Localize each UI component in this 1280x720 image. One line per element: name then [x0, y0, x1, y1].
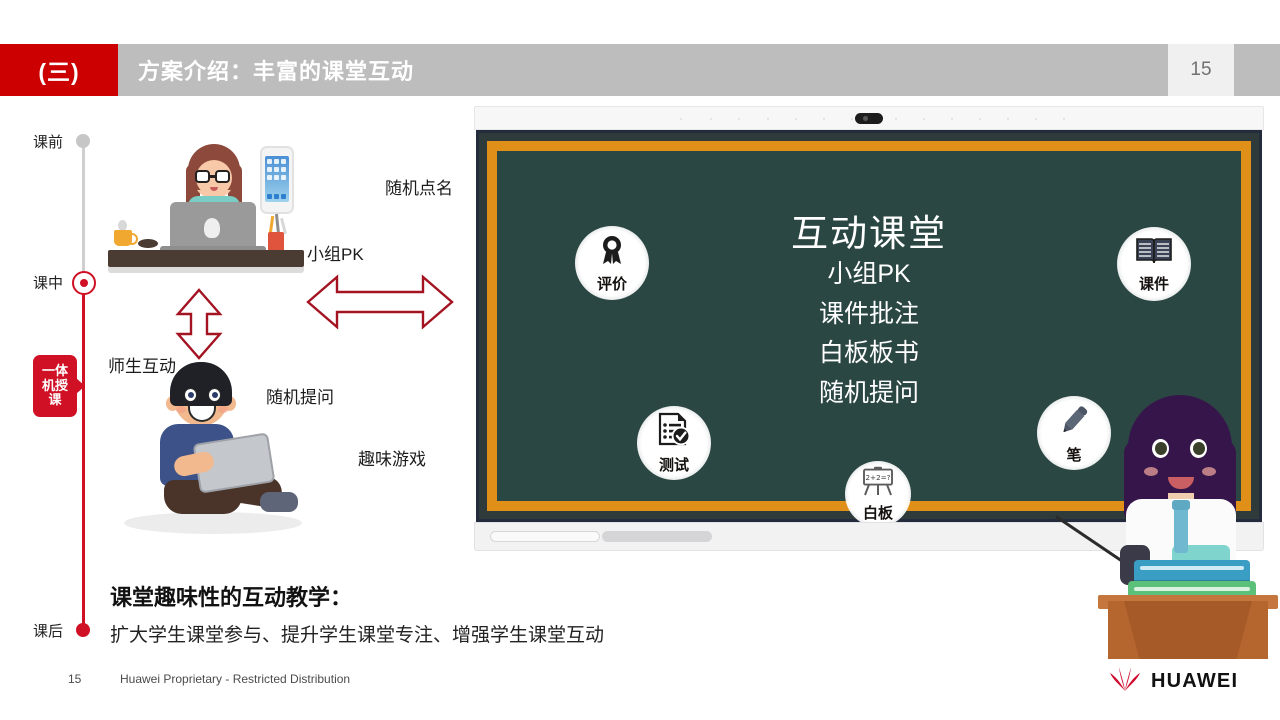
timeline-label-during: 课中: [33, 272, 63, 293]
student-hair: [170, 362, 232, 406]
laptop-icon: [170, 202, 256, 252]
board-icon-label-pen: 笔: [1066, 444, 1081, 465]
summary-body: 扩大学生课堂参与、提升学生课堂专注、增强学生课堂互动: [110, 620, 604, 647]
timeline-line-upper: [82, 140, 85, 280]
phone-screen: [265, 156, 289, 202]
board-icon-whiteboard[interactable]: 2+2=? 白板: [845, 461, 911, 527]
pen-tray-slot-left[interactable]: [490, 531, 600, 542]
easel-expression: 2+2=?: [865, 473, 890, 482]
label-random-roll-call: 随机点名: [385, 174, 453, 199]
section-number: (三): [0, 44, 118, 96]
label-teacher-student-interaction: 师生互动: [108, 352, 176, 377]
student-presenter-figure: [1090, 395, 1280, 660]
slide-canvas: (三) 方案介绍：丰富的课堂互动 15 课前 课中 课后 一体 机授 课: [0, 0, 1280, 720]
girl-eye-right: [1190, 439, 1207, 458]
badge-line-3: 课: [48, 393, 61, 408]
header-red-block: (三): [0, 44, 118, 96]
desk-surface: [108, 250, 304, 267]
footer-page-number: 15: [68, 672, 81, 686]
camera-icon: [855, 113, 883, 124]
podium: [1108, 601, 1268, 659]
timeline-dot-before: [76, 134, 90, 148]
board-icon-label-courseware: 课件: [1139, 273, 1169, 294]
timeline-marker-during: [72, 271, 96, 295]
open-book-icon: [1134, 235, 1174, 272]
student-cheek-left: [176, 406, 186, 413]
badge-line-2: 机授: [42, 379, 68, 394]
classroom-illustration: 随机点名 小组PK 师生互动 随机提问 趣味游戏: [100, 140, 470, 550]
pencil-icon: [1056, 402, 1092, 443]
summary-heading: 课堂趣味性的互动教学：: [110, 580, 352, 612]
huawei-wordmark: HUAWEI: [1151, 670, 1238, 693]
student-shadow: [124, 512, 302, 534]
slide-header: (三) 方案介绍：丰富的课堂互动 15: [0, 44, 1280, 96]
board-icon-label-evaluation: 评价: [597, 273, 627, 294]
checklist-icon: [657, 412, 691, 453]
board-icon-label-test: 测试: [659, 454, 689, 475]
desk-object: [138, 239, 158, 248]
desk-shadow: [108, 267, 304, 273]
girl-brow-left: [1151, 432, 1169, 436]
timeline-label-after: 课后: [33, 620, 63, 641]
pen-tray-slot-right[interactable]: [602, 531, 712, 542]
smartboard-top-bezel: [474, 106, 1264, 130]
board-feature-3: 白板板书: [497, 334, 1241, 374]
girl-cheek-right: [1202, 467, 1216, 476]
huawei-logo: HUAWEI: [1108, 666, 1238, 697]
eyeglasses-icon: [195, 170, 233, 183]
easel-icon: 2+2=?: [860, 466, 896, 501]
timeline-dot-after: [76, 623, 90, 637]
student-eye-left: [184, 388, 197, 402]
smartphone-icon: [260, 146, 294, 214]
student-eye-right: [208, 388, 221, 402]
footer-confidentiality: Huawei Proprietary - Restricted Distribu…: [120, 672, 350, 686]
girl-brow-right: [1189, 432, 1207, 436]
label-random-question: 随机提问: [266, 383, 334, 408]
timeline-badge: 一体 机授 课: [33, 355, 77, 417]
label-group-pk: 小组PK: [307, 240, 364, 265]
board-icon-test[interactable]: 测试: [637, 406, 711, 480]
girl-cheek-left: [1144, 467, 1158, 476]
board-icon-evaluation[interactable]: 评价: [575, 226, 649, 300]
timeline-line-lower: [82, 282, 85, 630]
header-page-number: 15: [1168, 44, 1234, 96]
horizontal-double-arrow-icon: [305, 272, 455, 332]
necktie-icon: [1174, 507, 1188, 553]
student-cheek-right: [218, 406, 228, 413]
girl-eye-left: [1152, 439, 1169, 458]
medal-icon: [595, 233, 629, 272]
pencil-cup-icon: [268, 232, 284, 252]
student-shoe: [260, 492, 298, 512]
coffee-cup-icon: [114, 230, 132, 246]
board-icon-courseware[interactable]: 课件: [1117, 227, 1191, 301]
board-feature-2: 课件批注: [497, 295, 1241, 335]
badge-line-1: 一体: [42, 364, 68, 379]
timeline-label-before: 课前: [33, 131, 63, 152]
vertical-double-arrow-icon: [170, 288, 228, 360]
label-fun-games: 趣味游戏: [358, 445, 426, 470]
board-icon-label-whiteboard: 白板: [863, 502, 893, 523]
huawei-flower-icon: [1108, 666, 1142, 697]
page-title: 方案介绍：丰富的课堂互动: [138, 44, 414, 96]
